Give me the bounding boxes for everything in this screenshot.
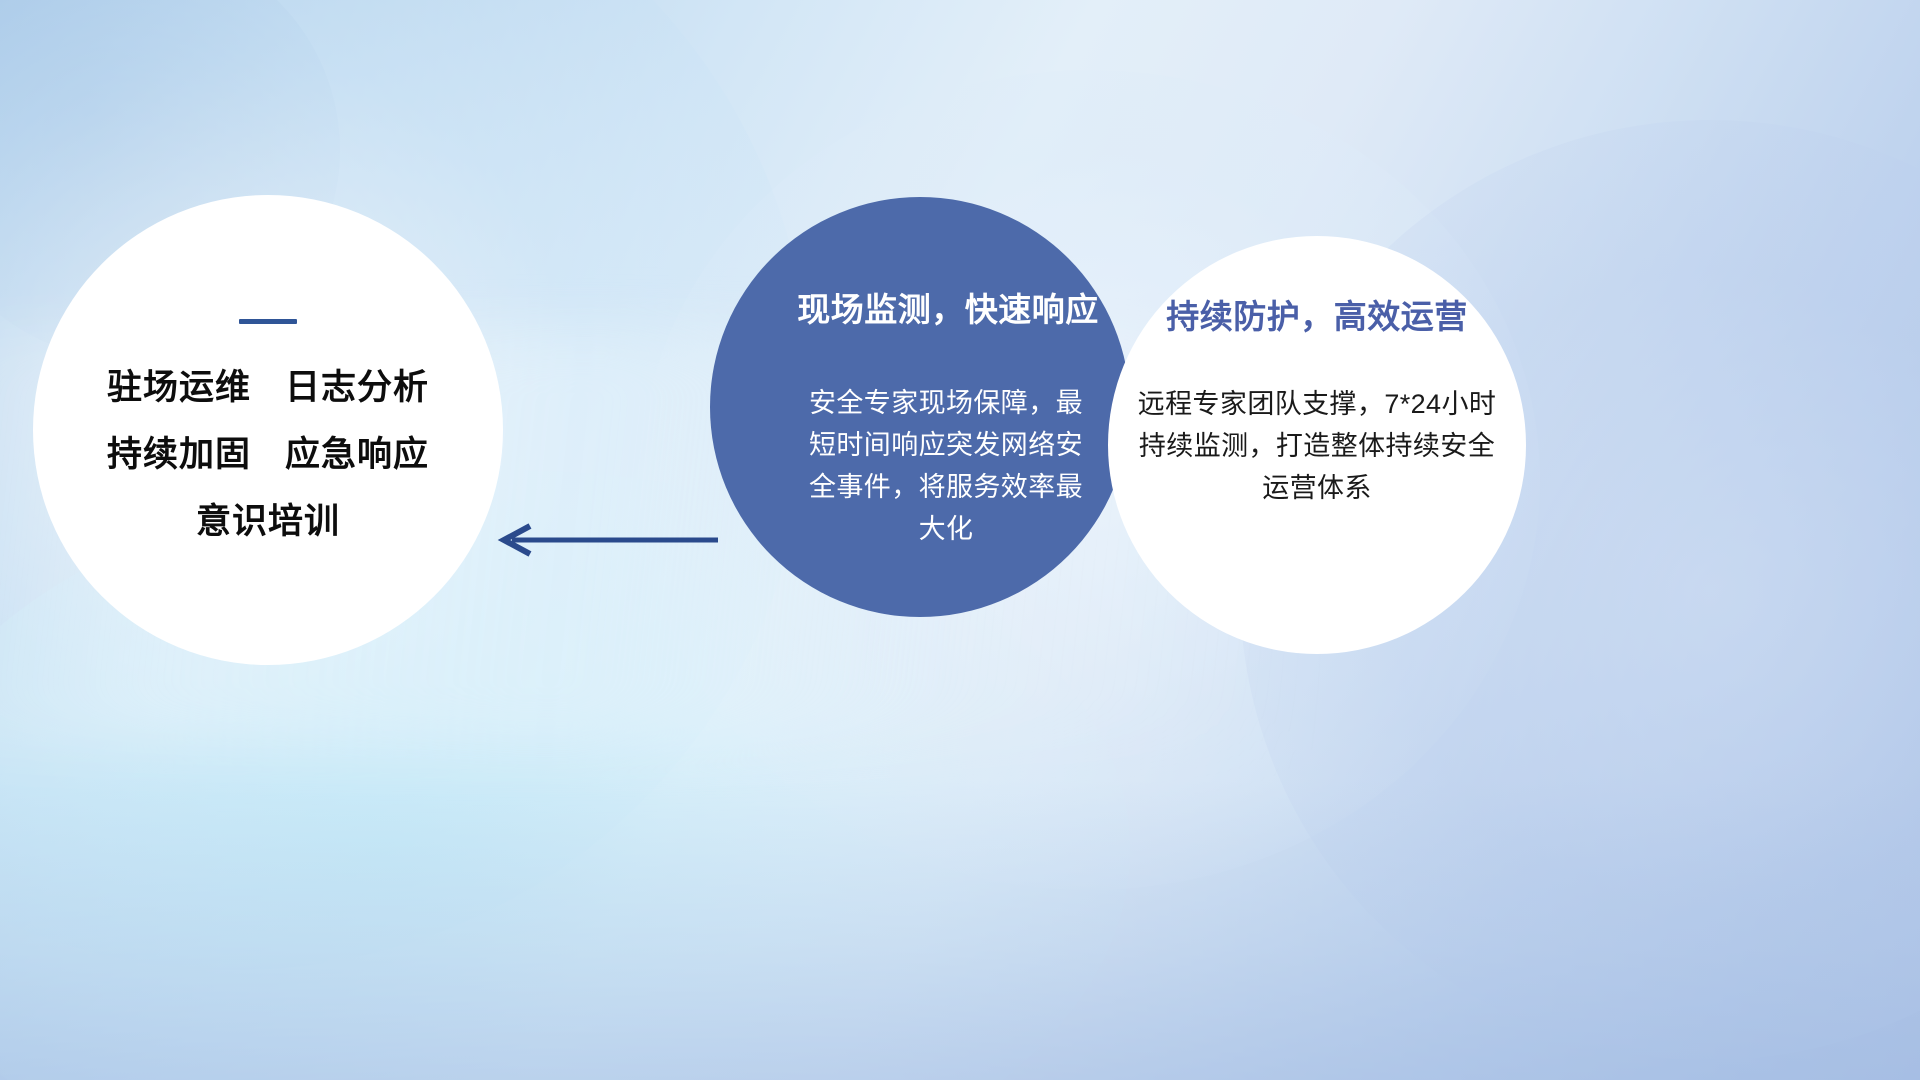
keyword-item: 驻场运维 xyxy=(107,370,251,407)
keyword-item: 持续加固 xyxy=(107,437,251,474)
keyword-item: 应急响应 xyxy=(285,437,429,474)
center-circle-body: 安全专家现场保障，最短时间响应突发网络安全事件，将服务效率最大化 xyxy=(798,383,1094,550)
horizontal-dash-divider-icon xyxy=(239,319,297,324)
keyword-item: 日志分析 xyxy=(285,370,429,407)
slide-canvas: 驻场运维 日志分析 持续加固 应急响应 意识培训 现场监测，快速响应 安全专家现… xyxy=(0,0,1920,1080)
keyword-row: 持续加固 应急响应 xyxy=(107,437,429,474)
center-blue-circle: 现场监测，快速响应 安全专家现场保障，最短时间响应突发网络安全事件，将服务效率最… xyxy=(710,197,1130,617)
keyword-item: 意识培训 xyxy=(196,504,340,541)
left-keyword-circle: 驻场运维 日志分析 持续加固 应急响应 意识培训 xyxy=(33,195,503,665)
center-circle-title: 现场监测，快速响应 xyxy=(797,283,1099,331)
keyword-row: 驻场运维 日志分析 xyxy=(107,370,429,407)
keyword-row: 意识培训 xyxy=(196,504,340,541)
background-bottom-shade xyxy=(0,780,1920,1080)
right-circle-title: 持续防护，高效运营 xyxy=(1166,290,1468,338)
arrow-left-icon xyxy=(490,520,720,560)
right-circle-body: 远程专家团队支撑，7*24小时持续监测，打造整体持续安全运营体系 xyxy=(1132,384,1502,510)
right-white-circle: 持续防护，高效运营 远程专家团队支撑，7*24小时持续监测，打造整体持续安全运营… xyxy=(1108,236,1526,654)
